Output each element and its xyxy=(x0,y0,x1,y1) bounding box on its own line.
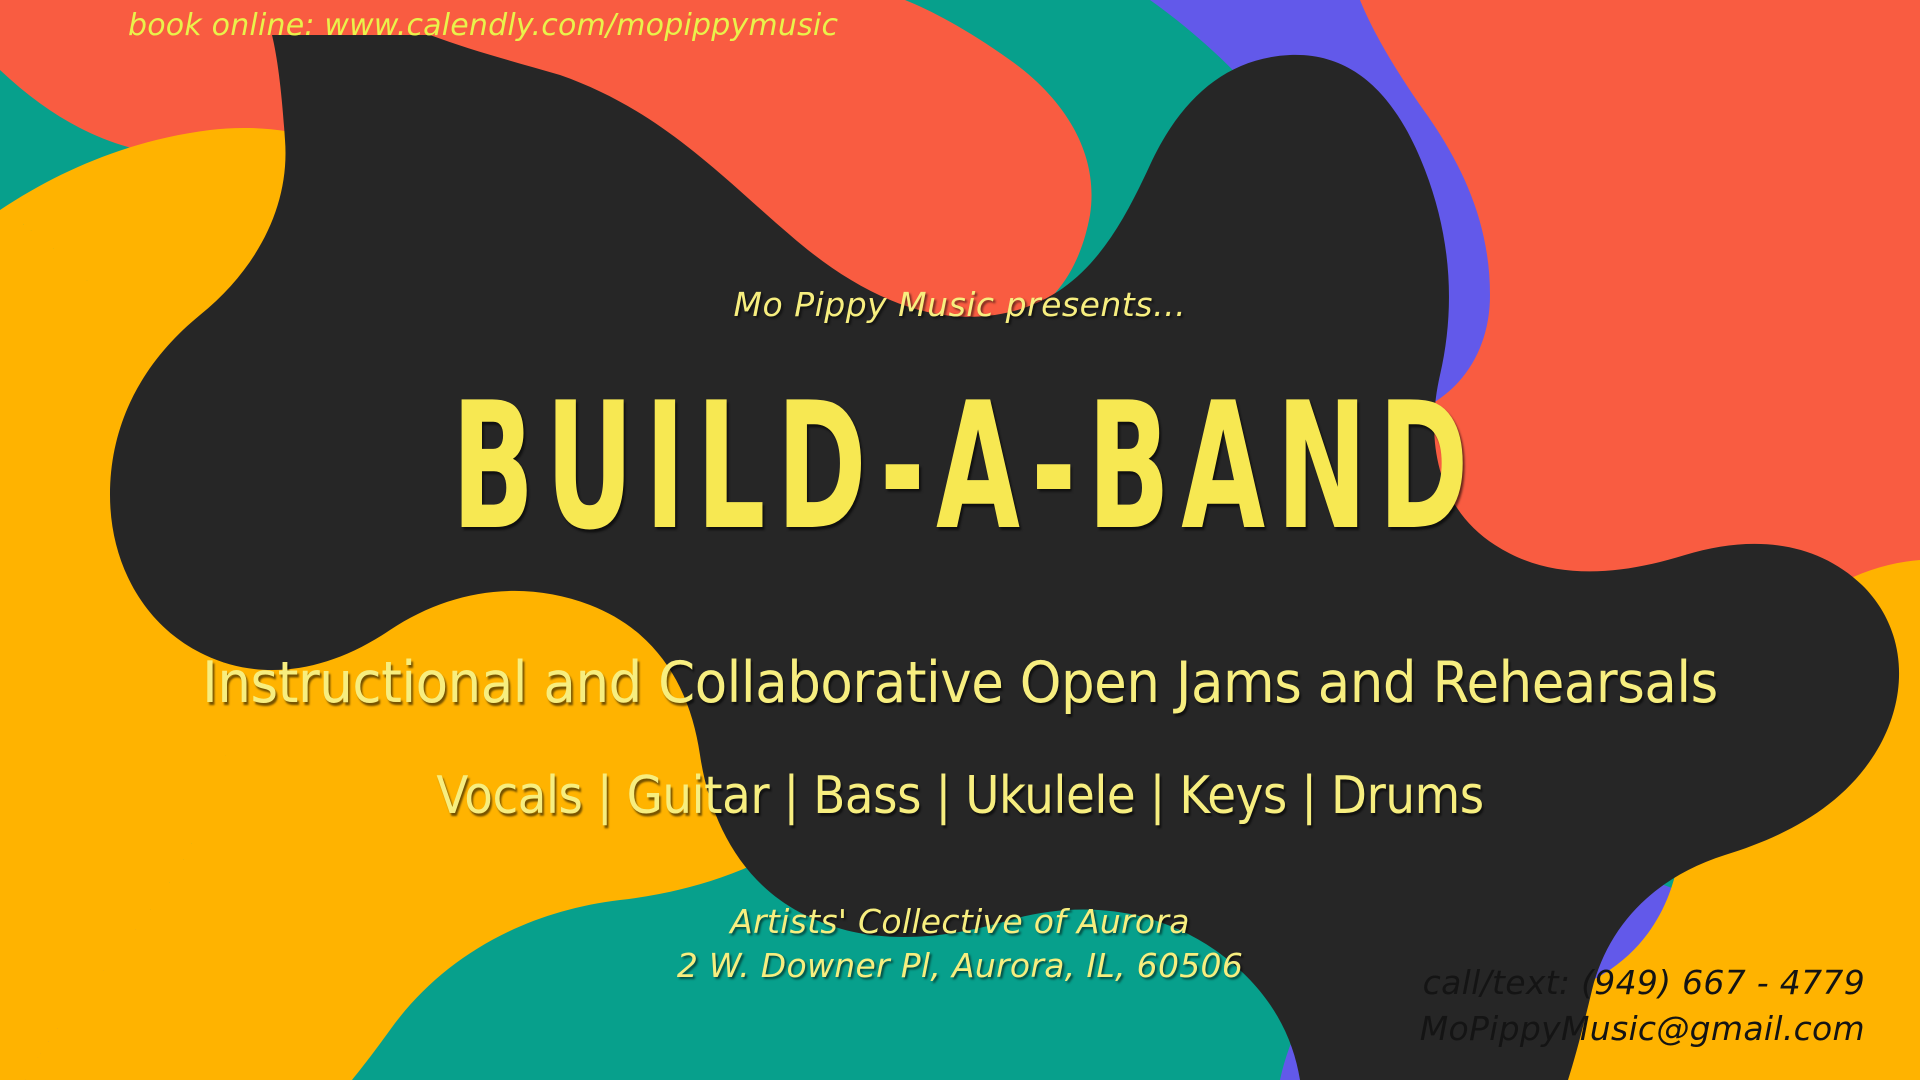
presents-tagline: Mo Pippy Music presents… xyxy=(0,285,1920,324)
page-title: BUILD-A-BAND xyxy=(365,380,1555,555)
venue-name: Artists' Collective of Aurora xyxy=(0,900,1920,944)
contact-email[interactable]: MoPippyMusic@gmail.com xyxy=(1420,1006,1865,1052)
poster-content: book online: www.calendly.com/mopippymus… xyxy=(0,0,1920,1080)
booking-link-text[interactable]: book online: www.calendly.com/mopippymus… xyxy=(128,8,838,43)
poster-canvas: book online: www.calendly.com/mopippymus… xyxy=(0,0,1920,1080)
contact-block: call/text: (949) 667 - 4779 MoPippyMusic… xyxy=(1420,960,1865,1052)
instruments-list: Vocals | Guitar | Bass | Ukulele | Keys … xyxy=(96,766,1824,826)
subtitle-text: Instructional and Collaborative Open Jam… xyxy=(67,650,1853,716)
contact-phone[interactable]: call/text: (949) 667 - 4779 xyxy=(1420,960,1865,1006)
